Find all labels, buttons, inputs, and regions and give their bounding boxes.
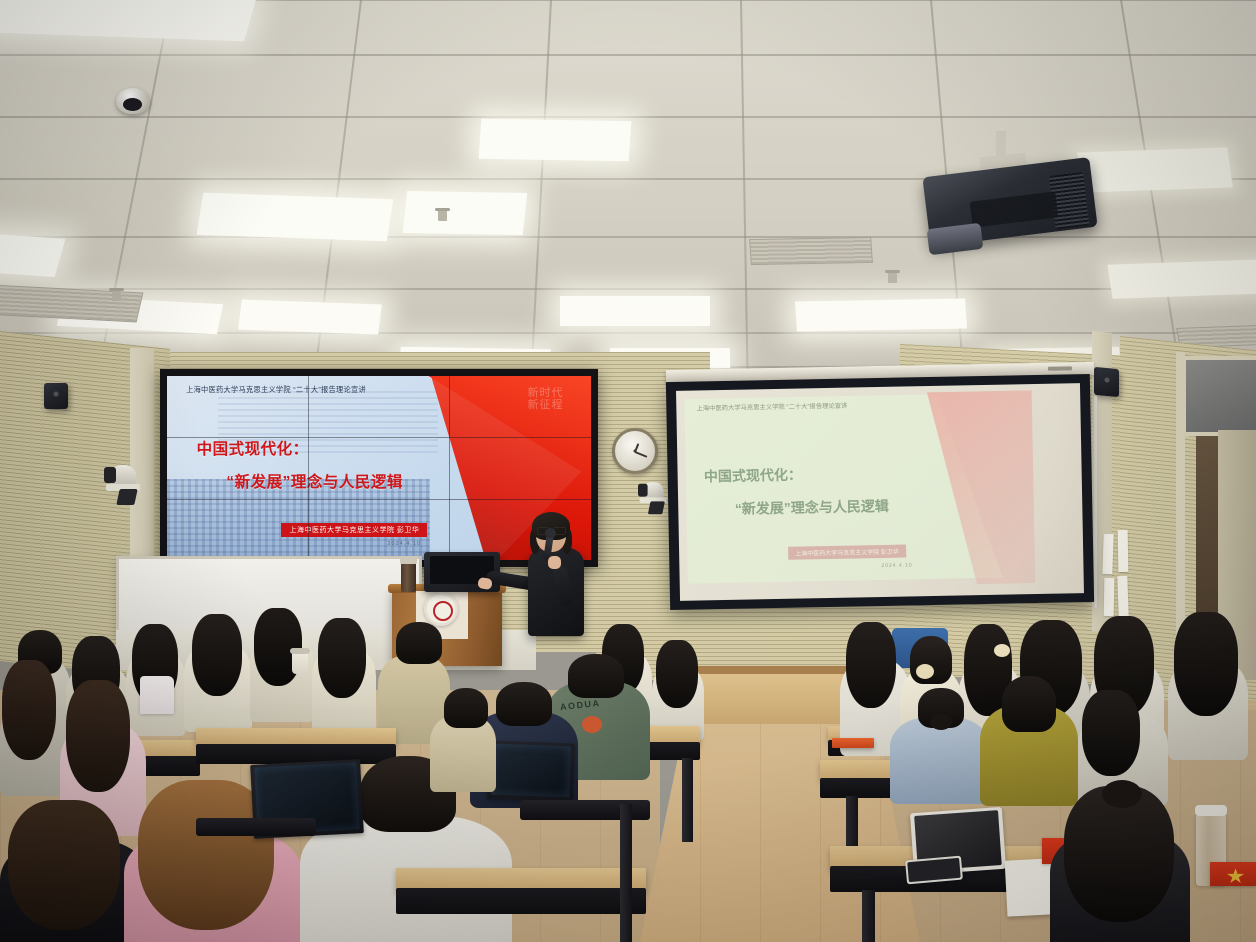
- wall-clock: [612, 428, 658, 474]
- slide-header: 上海中医药大学马克思主义学院 “二十大”报告理论宣讲: [186, 385, 466, 394]
- lecture-hall-photo: 新时代新征程 上海中医药大学马克思主义学院 “二十大”报告理论宣讲 中国式现代化…: [0, 0, 1256, 942]
- paper-cup[interactable]: [292, 652, 308, 674]
- projected-date: 2024.4.10: [881, 563, 912, 570]
- hair-bun: [930, 714, 952, 730]
- red-textbook[interactable]: [832, 738, 874, 748]
- dome-security-camera: [116, 88, 150, 114]
- ptz-camera-left: [104, 465, 144, 507]
- thermos-cup[interactable]: [401, 562, 416, 592]
- ceiling-light-panel: [479, 119, 632, 162]
- ceiling-light-panel: [560, 296, 710, 326]
- student: [312, 618, 376, 730]
- sprinkler-head: [438, 208, 447, 221]
- slide-footer-band: 上海中医药大学马克思主义学院 彭卫华: [281, 523, 427, 537]
- smartphone[interactable]: [905, 856, 963, 885]
- ceiling-light-panel: [403, 191, 527, 235]
- notice-paper: [1118, 530, 1129, 572]
- notice-paper: [1117, 576, 1128, 616]
- ceiling-light-panel: [1107, 259, 1256, 299]
- sprinkler-head: [888, 270, 897, 283]
- wall-speaker-left: [44, 383, 68, 409]
- student: [430, 690, 496, 790]
- desk-leg: [862, 890, 875, 942]
- notice-paper: [1102, 534, 1113, 574]
- ptz-camera-center: [638, 482, 670, 516]
- sprinkler-head: [112, 288, 121, 301]
- student: [980, 676, 1078, 802]
- red-booklet[interactable]: [1210, 862, 1256, 886]
- student: [1168, 612, 1248, 748]
- ceiling-light-panel: [197, 193, 394, 242]
- lectern-emblem: [424, 592, 458, 626]
- slide-title-line1: 中国式现代化：: [197, 437, 309, 459]
- presenter-right-hand: [548, 556, 561, 569]
- jacket-graphic: [582, 716, 602, 733]
- slide-watermark: 新时代新征程: [526, 387, 566, 411]
- student: [890, 690, 990, 800]
- laptop[interactable]: [487, 741, 575, 802]
- desk-leg: [682, 758, 693, 842]
- ceiling-light-panel: [238, 300, 382, 335]
- projected-title-line2: “新发展”理念与人民逻辑: [735, 496, 889, 519]
- ceiling-light-panel: [795, 299, 967, 332]
- wall-speaker-right: [1094, 367, 1119, 397]
- hair-scrunchie: [916, 664, 934, 679]
- student: [184, 614, 252, 730]
- hair-bun: [1102, 780, 1142, 808]
- slide-title-line2: “新发展”理念与人民逻辑: [226, 470, 403, 492]
- ceiling-light-panel: [1077, 147, 1233, 192]
- projected-footer-band: 上海中医药大学马克思主义学院 彭卫华: [788, 544, 906, 559]
- projected-title-line1: 中国式现代化：: [704, 464, 802, 486]
- hair-scrunchie: [994, 644, 1010, 657]
- door-transom-window: [1182, 356, 1256, 436]
- slide-date: 2024.4.10: [387, 541, 420, 547]
- notice-paper: [1104, 578, 1115, 616]
- desk-leg: [620, 804, 632, 942]
- student: [652, 640, 704, 736]
- desk-row-front-frame: [396, 888, 646, 914]
- wall-cable: [1094, 396, 1097, 608]
- student: [1050, 786, 1190, 942]
- air-vent: [749, 237, 873, 265]
- chair-back[interactable]: [196, 818, 316, 836]
- projection-screen[interactable]: 上海中医药大学马克思主义学院 “二十大”报告理论宣讲 中国式现代化： “新发展”…: [666, 374, 1094, 610]
